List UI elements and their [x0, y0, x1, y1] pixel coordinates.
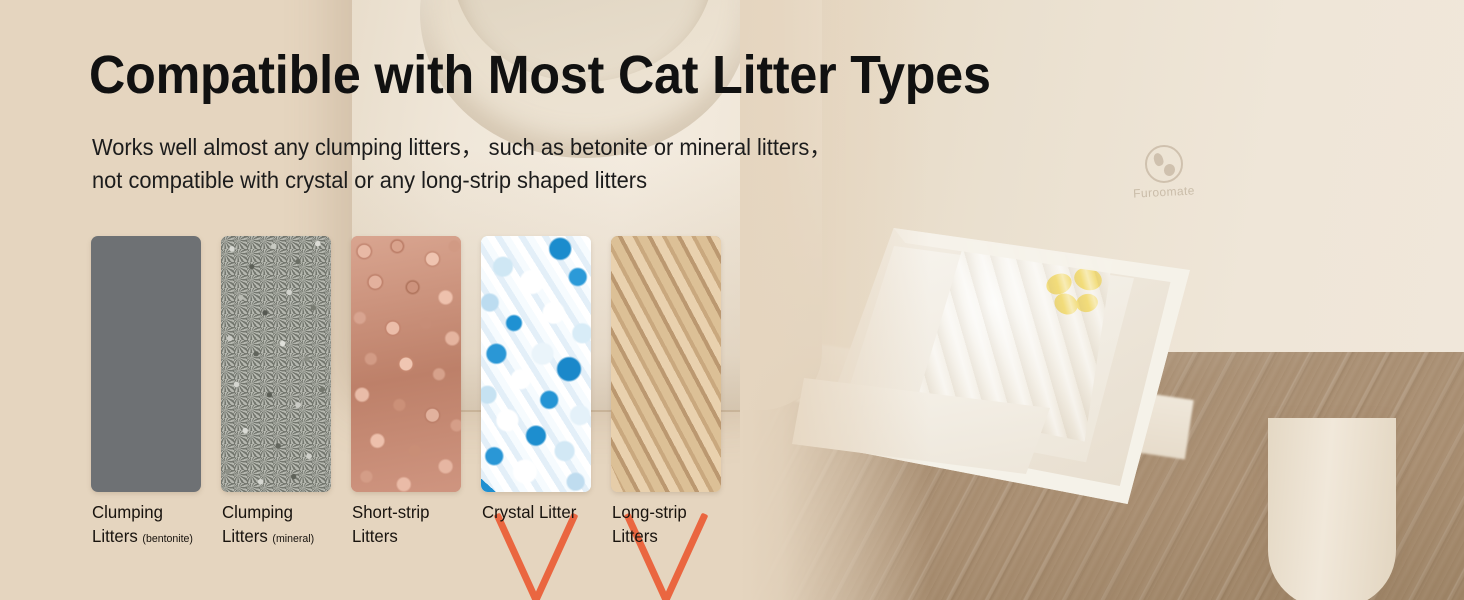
texture-fine-grey-granules: [221, 236, 331, 492]
litter-swatch-crystal: [481, 236, 591, 492]
litter-swatch-clumping-bentonite: [91, 236, 201, 492]
caption-note: (bentonite): [142, 533, 192, 545]
text-content: Compatible with Most Cat Litter Types Wo…: [0, 0, 780, 600]
cat-face-icon: [1145, 145, 1183, 183]
caption-short-strip: Short-strip Litters: [352, 500, 475, 548]
brand-logo: Furoomate: [1116, 145, 1212, 207]
caption-note: (mineral): [272, 533, 314, 545]
caption-long-strip: Long-strip Litters: [612, 500, 735, 548]
brand-name: Furoomate: [1116, 182, 1213, 201]
litter-swatch-clumping-mineral: [221, 236, 331, 492]
caption-line-1: Short-strip: [352, 502, 429, 522]
subheading: Works well almost any clumping litters， …: [92, 131, 966, 197]
yellow-bag-tie: [1046, 268, 1102, 314]
texture-dark-grey-pebbles: [91, 236, 201, 492]
caption-clumping-mineral: Clumping Litters (mineral): [222, 500, 345, 551]
caption-line-1: Clumping: [222, 502, 293, 522]
texture-pink-granules: [351, 236, 461, 492]
caption-line-2: Litters: [352, 526, 398, 546]
litter-swatch-row: [91, 236, 751, 496]
texture-blue-white-crystals: [481, 236, 591, 492]
product-feature-banner: Furoomate Compatible with Most Cat Litte…: [0, 0, 1464, 600]
caption-clumping-bentonite: Clumping Litters (bentonite): [92, 500, 215, 551]
caption-line-1: Crystal Litter: [482, 502, 576, 522]
swatch-captions: Clumping Litters (bentonite) Clumping Li…: [91, 500, 791, 570]
page-title: Compatible with Most Cat Litter Types: [89, 44, 1019, 106]
litter-swatch-long-strip: [611, 236, 721, 492]
caption-line-2: Litters: [222, 526, 268, 546]
litter-swatch-short-strip: [351, 236, 461, 492]
caption-line-2: Litters: [92, 526, 138, 546]
litter-box-leg: [1268, 418, 1396, 600]
caption-line-2: Litters: [612, 526, 658, 546]
caption-line-1: Clumping: [92, 502, 163, 522]
subheading-line-1: Works well almost any clumping litters， …: [92, 131, 966, 164]
caption-line-1: Long-strip: [612, 502, 687, 522]
texture-tan-wood-pellets: [611, 236, 721, 492]
subheading-line-2: not compatible with crystal or any long-…: [92, 164, 966, 197]
caption-crystal: Crystal Litter: [482, 500, 616, 524]
